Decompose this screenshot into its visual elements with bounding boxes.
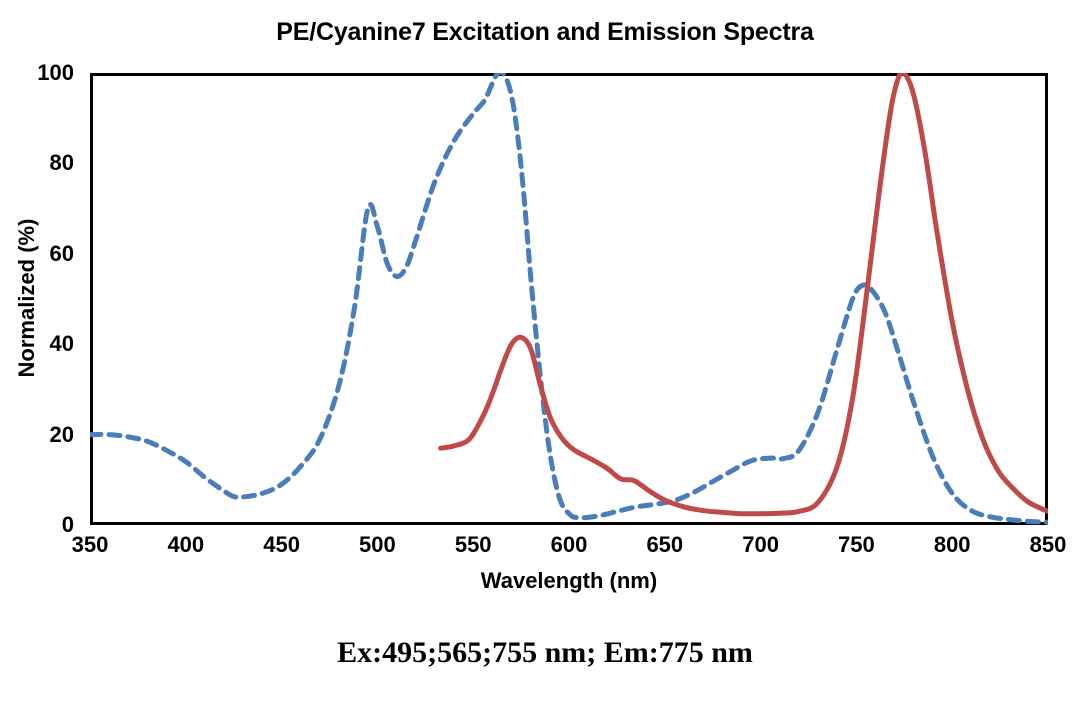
x-tick-label: 600 — [524, 534, 614, 556]
x-tick-label: 700 — [716, 534, 806, 556]
spectra-figure: PE/Cyanine7 Excitation and Emission Spec… — [0, 0, 1090, 703]
x-tick-label: 650 — [620, 534, 710, 556]
y-tick-label: 0 — [18, 514, 74, 536]
y-tick-label: 80 — [18, 152, 74, 174]
x-tick-label: 750 — [811, 534, 901, 556]
x-axis-title: Wavelength (nm) — [90, 568, 1048, 594]
figure-caption: Ex:495;565;755 nm; Em:775 nm — [0, 636, 1090, 670]
page-title: PE/Cyanine7 Excitation and Emission Spec… — [0, 18, 1090, 47]
x-tick-label: 800 — [907, 534, 997, 556]
x-tick-label: 450 — [237, 534, 327, 556]
curve-excitation — [90, 73, 1048, 522]
x-axis-tick-labels: 350400450500550600650700750800850 — [90, 534, 1048, 564]
x-tick-label: 400 — [141, 534, 231, 556]
y-tick-label: 100 — [18, 62, 74, 84]
x-tick-label: 500 — [332, 534, 422, 556]
plot-area — [90, 73, 1048, 525]
axis-lines — [90, 73, 1048, 525]
x-tick-label: 850 — [1003, 534, 1090, 556]
series-curves — [90, 73, 1048, 522]
x-tick-label: 350 — [45, 534, 135, 556]
x-tick-label: 550 — [428, 534, 518, 556]
y-tick-label: 20 — [18, 424, 74, 446]
y-axis-title: Normalized (%) — [14, 178, 40, 418]
axis-tick-marks — [90, 73, 1048, 525]
spectra-plot-svg — [90, 73, 1048, 525]
